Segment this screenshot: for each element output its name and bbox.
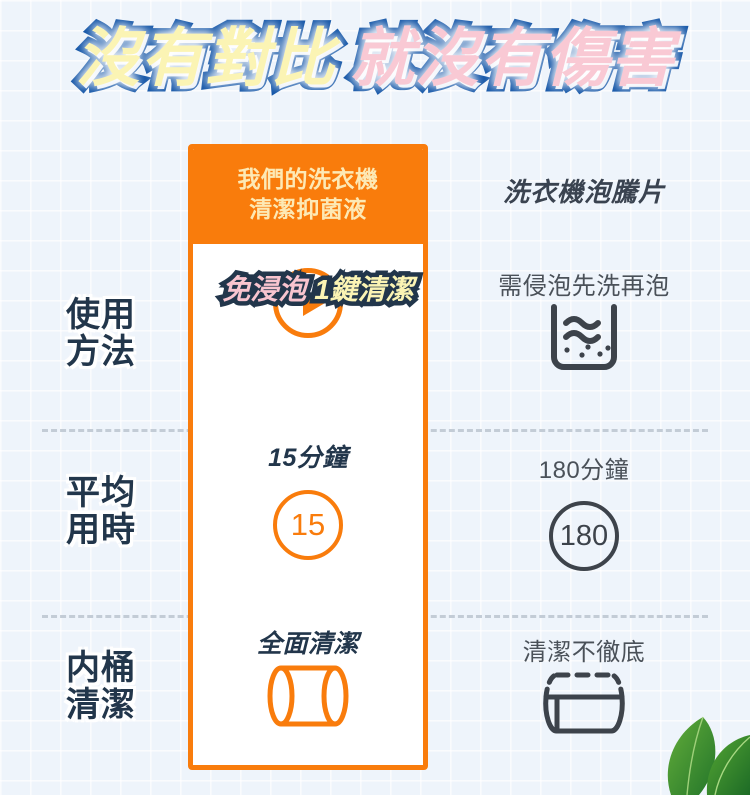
row-label-drum-cleaning: 内桶 清潔: [26, 650, 176, 725]
row-label-average-time-line-2: 用時: [26, 512, 176, 549]
rival-product-header: 洗衣機泡騰片: [448, 172, 720, 209]
featured-time-caption: 15分鐘: [188, 438, 428, 474]
row-label-usage-line-1: 使用: [26, 297, 176, 334]
rival-cell-usage: 需侵泡先洗再泡: [448, 266, 720, 382]
row-label-average-time: 平均 用時: [26, 475, 176, 550]
featured-time-circle: 15: [273, 490, 343, 560]
rival-time-circle: 180: [549, 501, 619, 571]
badge-one-touch-label: 1鍵清潔: [314, 268, 414, 308]
title-part-2: 就沒有傷害: [350, 22, 675, 96]
rival-time-caption: 180分鐘: [448, 450, 720, 485]
page-title: 沒有對比就沒有傷害: [0, 22, 750, 96]
featured-cell-average-time: 15分鐘 15: [188, 438, 428, 608]
rival-usage-caption: 需侵泡先洗再泡: [448, 266, 720, 301]
comparison-table: 我們的洗衣機 清潔抑菌液 洗衣機泡騰片 使用 方法 平均 用時 内桶 清潔 免浸…: [0, 140, 750, 780]
rival-clean-caption: 清潔不徹底: [448, 632, 720, 667]
featured-clean-caption: 全面清潔: [188, 624, 428, 660]
drum-full-clean-icon: [188, 660, 428, 737]
row-label-drum-cleaning-line-2: 清潔: [26, 687, 176, 724]
row-label-usage-line-2: 方法: [26, 334, 176, 371]
row-label-drum-cleaning-line-1: 内桶: [26, 650, 176, 687]
title-part-1: 沒有對比: [76, 22, 336, 96]
rival-cell-drum-cleaning: 清潔不徹底: [448, 632, 720, 744]
row-label-usage: 使用 方法: [26, 297, 176, 372]
featured-header-line-2: 清潔抑菌液: [249, 195, 367, 223]
rival-cell-average-time: 180分鐘 180: [448, 450, 720, 571]
badge-no-soak-label: 免浸泡: [222, 268, 306, 308]
featured-header-line-1: 我們的洗衣機: [238, 165, 379, 193]
row-label-average-time-line-1: 平均: [26, 475, 176, 512]
feature-badge: 免浸泡1鍵清潔: [194, 268, 442, 308]
drum-partial-clean-icon: [448, 667, 720, 744]
featured-cell-drum-cleaning: 全面清潔: [188, 624, 428, 774]
featured-product-header: 我們的洗衣機 清潔抑菌液: [188, 144, 428, 244]
soak-basin-icon: [448, 301, 720, 382]
